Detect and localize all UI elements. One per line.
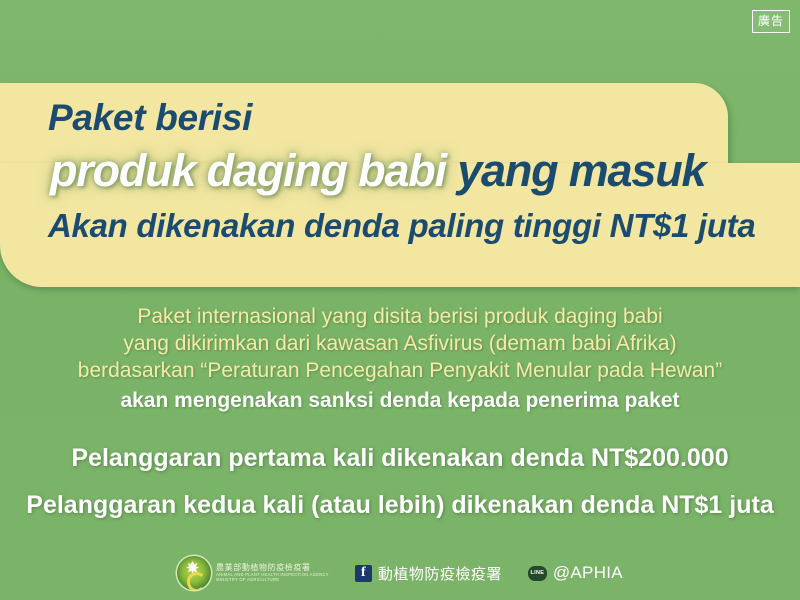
agency-name-english-line2: MINISTRY OF AGRICULTURE [216,578,329,582]
advertisement-badge: 廣告 [752,10,790,33]
headline-line-2-rest: yang masuk [446,145,705,196]
poster-canvas: 廣告 Paket berisi produk daging babi yang … [0,0,800,600]
headline-panel: Paket berisi produk daging babi yang mas… [0,83,800,287]
headline-text-group: Paket berisi produk daging babi yang mas… [0,83,800,287]
penalty-first-offense: Pelanggaran pertama kali dikenakan denda… [0,444,800,473]
body-line-3: berdasarkan “Peraturan Pencegahan Penyak… [0,357,800,384]
agency-seal-icon [177,556,211,590]
agency-name-block: 農業部動植物防疫檢疫署 ANIMAL AND PLANT HEALTH INSP… [216,564,329,582]
body-line-2: yang dikirimkan dari kawasan Asfivirus (… [0,330,800,357]
line-handle: @APHIA [553,563,623,583]
headline-line-1: Paket berisi [48,97,252,139]
line-icon: LINE [528,566,547,581]
headline-line-2: produk daging babi yang masuk [50,145,705,197]
headline-line-2-highlight: produk daging babi [50,145,446,196]
facebook-icon: f [355,565,372,582]
penalty-second-offense: Pelanggaran kedua kali (atau lebih) dike… [0,491,800,520]
body-emphasis-line: akan mengenakan sanksi denda kepada pene… [0,387,800,414]
body-paragraph: Paket internasional yang disita berisi p… [0,303,800,414]
headline-line-3: Akan dikenakan denda paling tinggi NT$1 … [48,207,755,245]
line-link[interactable]: LINE @APHIA [528,563,623,583]
agency-identity: 農業部動植物防疫檢疫署 ANIMAL AND PLANT HEALTH INSP… [177,556,329,590]
footer-bar: 農業部動植物防疫檢疫署 ANIMAL AND PLANT HEALTH INSP… [0,549,800,597]
facebook-handle: 動植物防疫檢疫署 [378,563,502,584]
facebook-link[interactable]: f 動植物防疫檢疫署 [355,563,502,584]
body-line-1: Paket internasional yang disita berisi p… [0,303,800,330]
agency-name-chinese: 農業部動植物防疫檢疫署 [216,564,329,572]
